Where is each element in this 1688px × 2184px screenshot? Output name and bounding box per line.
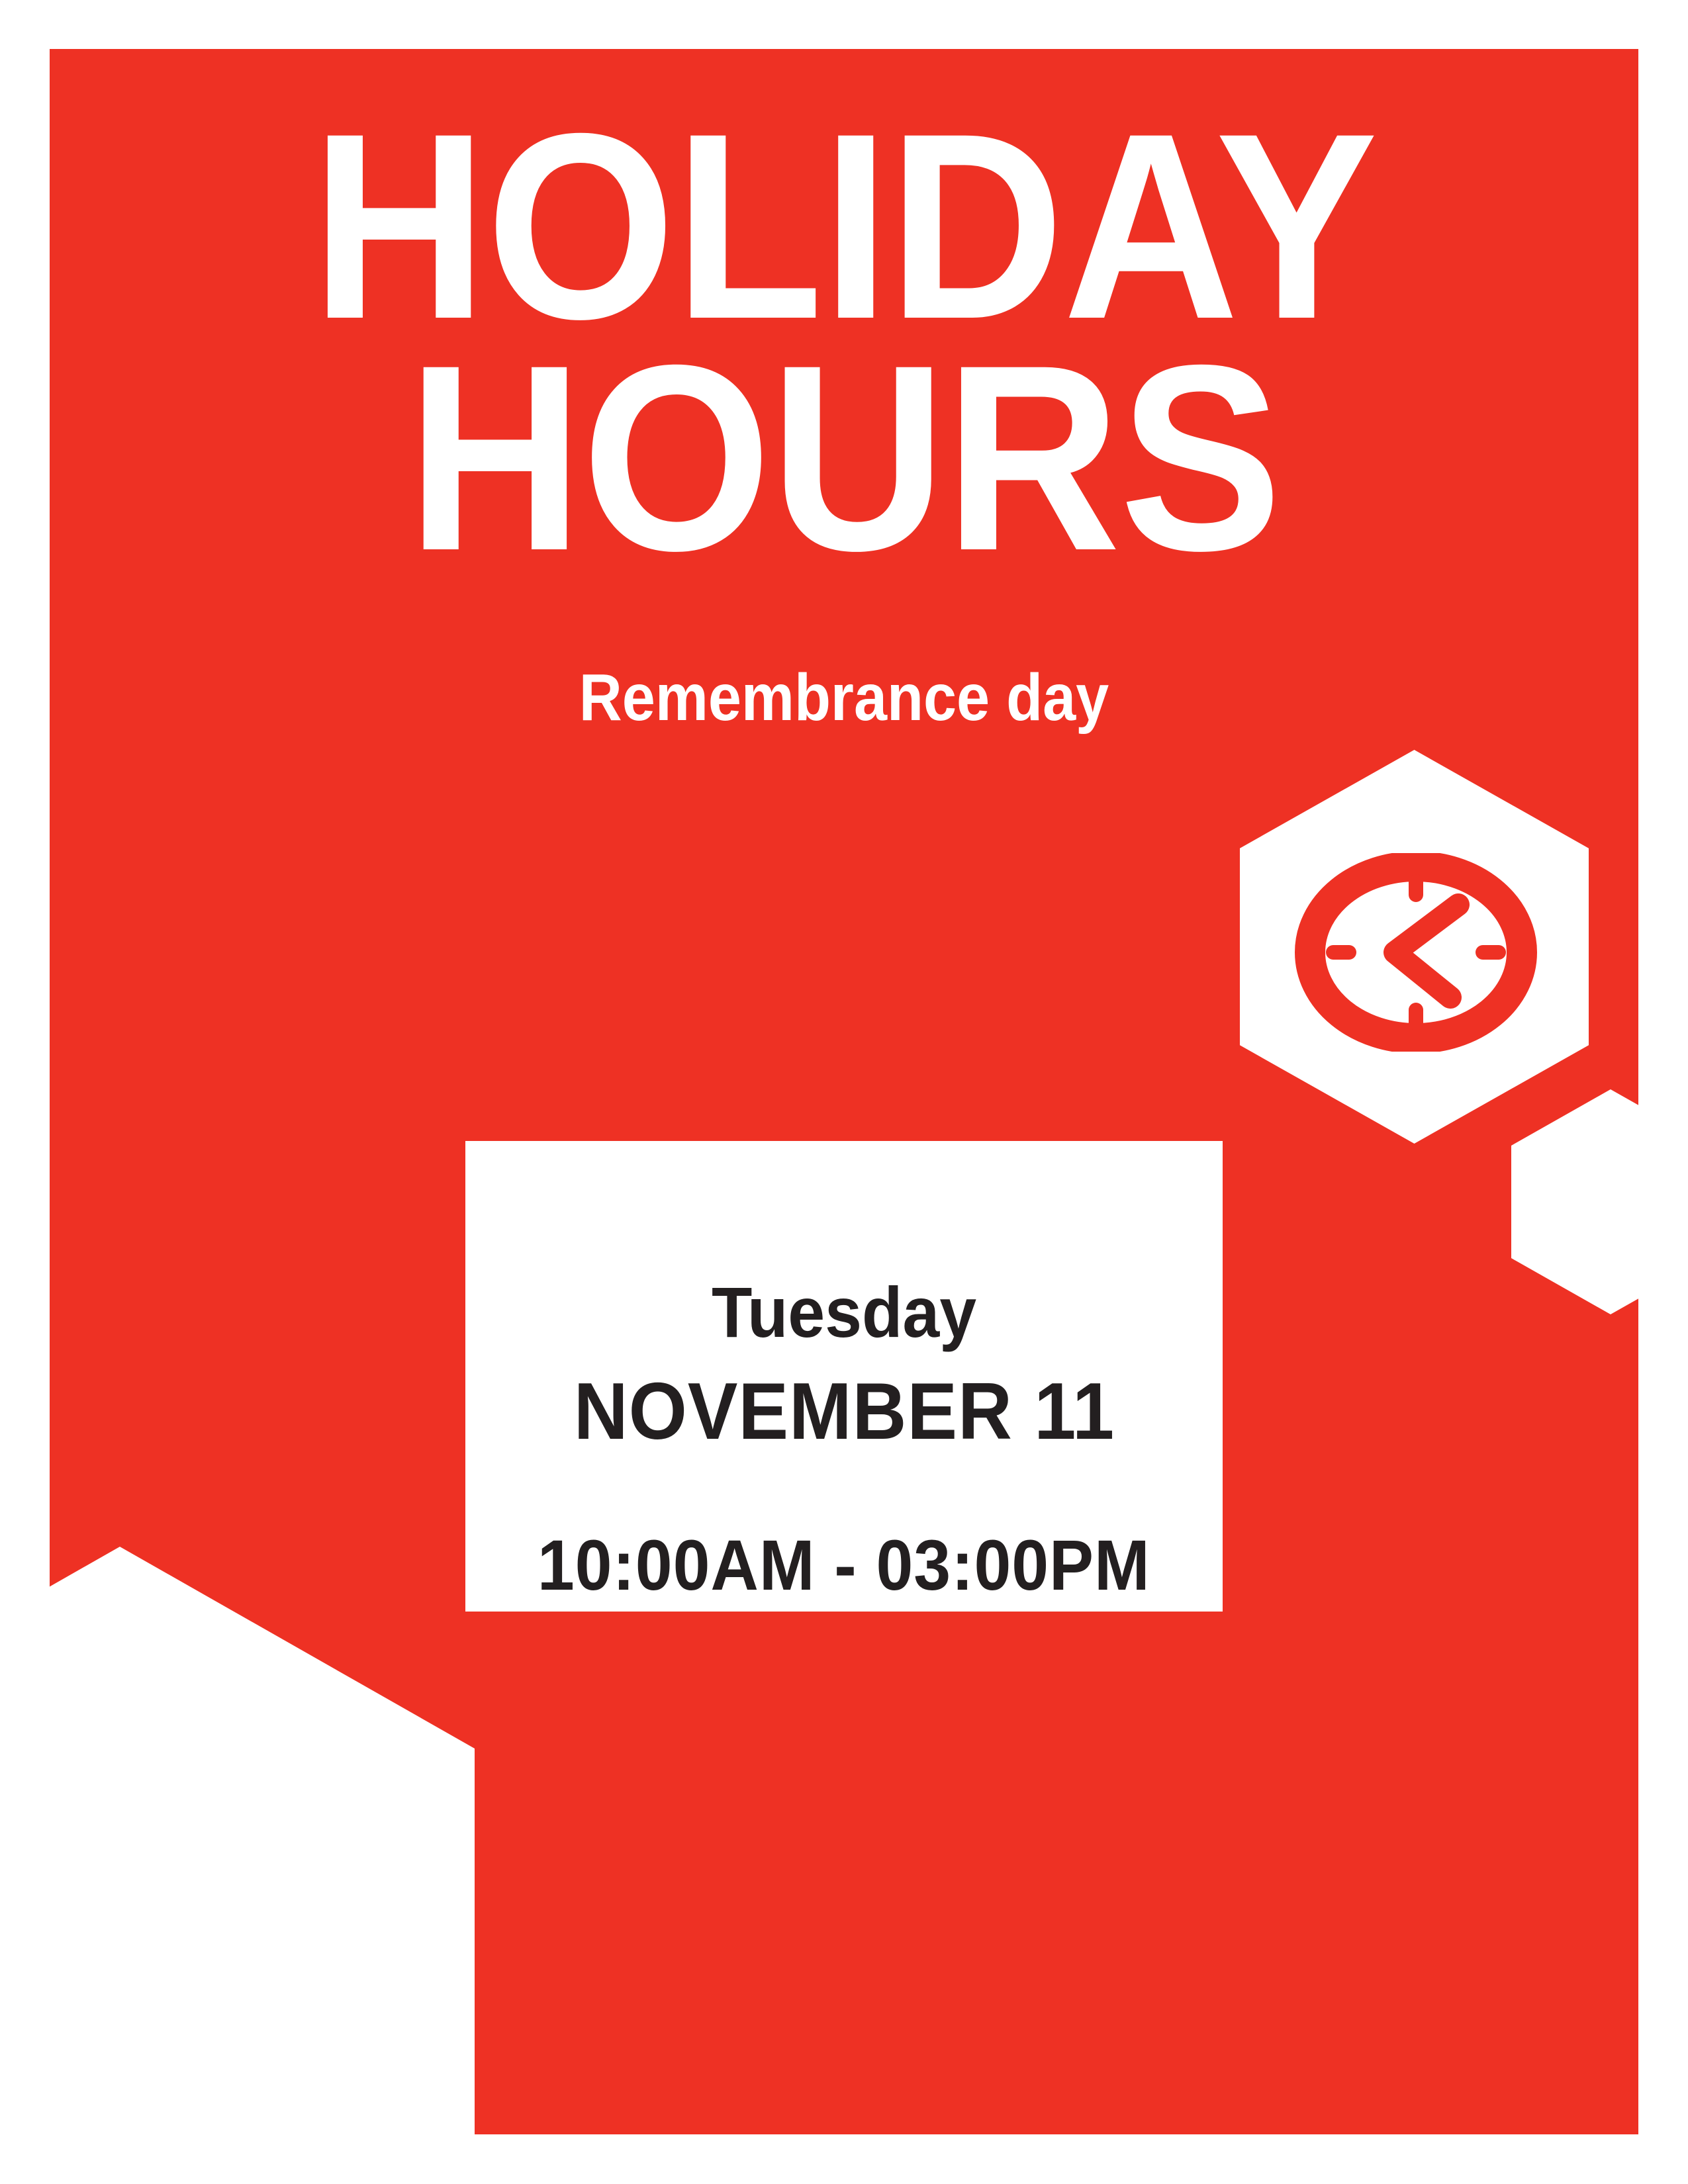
info-card: Tuesday NOVEMBER 11 10:00AM - 03:00PM [465,1141,1223,1612]
hexagon-shape-bottom-left [50,1547,475,2134]
headline-line-1: HOLIDAY [113,110,1575,343]
poster-subtitle: Remembrance day [129,664,1559,731]
hexagon-shape-small [1511,1089,1638,1314]
card-weekday: Tuesday [712,1277,976,1348]
headline-line-2: HOURS [113,341,1575,574]
card-date: NOVEMBER 11 [573,1371,1114,1451]
poster-page: HOLIDAY HOURS Remembrance day Tue [0,0,1688,2184]
red-background-panel: HOLIDAY HOURS Remembrance day Tue [50,49,1638,2134]
card-hours: 10:00AM - 03:00PM [538,1529,1150,1601]
clock-icon [1294,853,1538,1052]
